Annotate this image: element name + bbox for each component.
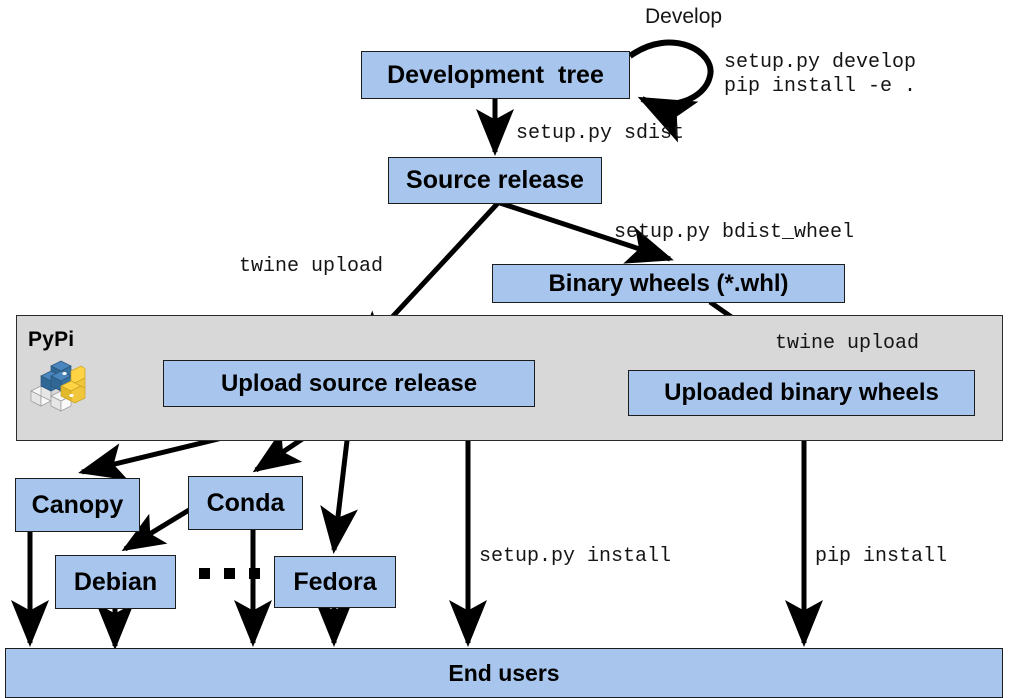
edge-label-bdist-wheel: setup.py bdist_wheel xyxy=(614,221,854,245)
edge-label-setup-py-install: setup.py install xyxy=(479,545,671,569)
node-conda[interactable]: Conda xyxy=(188,476,303,530)
node-end-users[interactable]: End users xyxy=(5,648,1003,698)
edge-develop-self-loop xyxy=(630,43,711,105)
pypi-python-blocks-logo xyxy=(27,357,89,413)
node-fedora[interactable]: Fedora xyxy=(274,556,396,608)
edge-label-develop-commands: setup.py develop pip install -e . xyxy=(724,51,916,100)
pypi-region-label: PyPi xyxy=(28,328,74,352)
node-source-release[interactable]: Source release xyxy=(388,157,602,204)
edge-label-pip-install: pip install xyxy=(815,545,947,569)
node-binary-wheels[interactable]: Binary wheels (*.whl) xyxy=(492,264,845,303)
node-debian[interactable]: Debian xyxy=(55,555,176,609)
edge-label-sdist: setup.py sdist xyxy=(516,122,684,146)
packaging-flow-diagram: PyPi xyxy=(0,0,1009,698)
node-uploaded-binary-wheels[interactable]: Uploaded binary wheels xyxy=(628,370,975,416)
edge-label-develop: Develop xyxy=(645,4,722,30)
edge-label-twine-upload-left: twine upload xyxy=(239,255,383,279)
node-upload-source-release[interactable]: Upload source release xyxy=(163,360,535,407)
edge-label-twine-upload-right: twine upload xyxy=(775,332,919,356)
ellipsis-dot-1 xyxy=(199,568,210,579)
node-development-tree[interactable]: Development tree xyxy=(361,51,630,99)
ellipsis-dots xyxy=(199,568,260,579)
ellipsis-dot-2 xyxy=(224,568,235,579)
node-canopy[interactable]: Canopy xyxy=(15,478,140,532)
ellipsis-dot-3 xyxy=(249,568,260,579)
